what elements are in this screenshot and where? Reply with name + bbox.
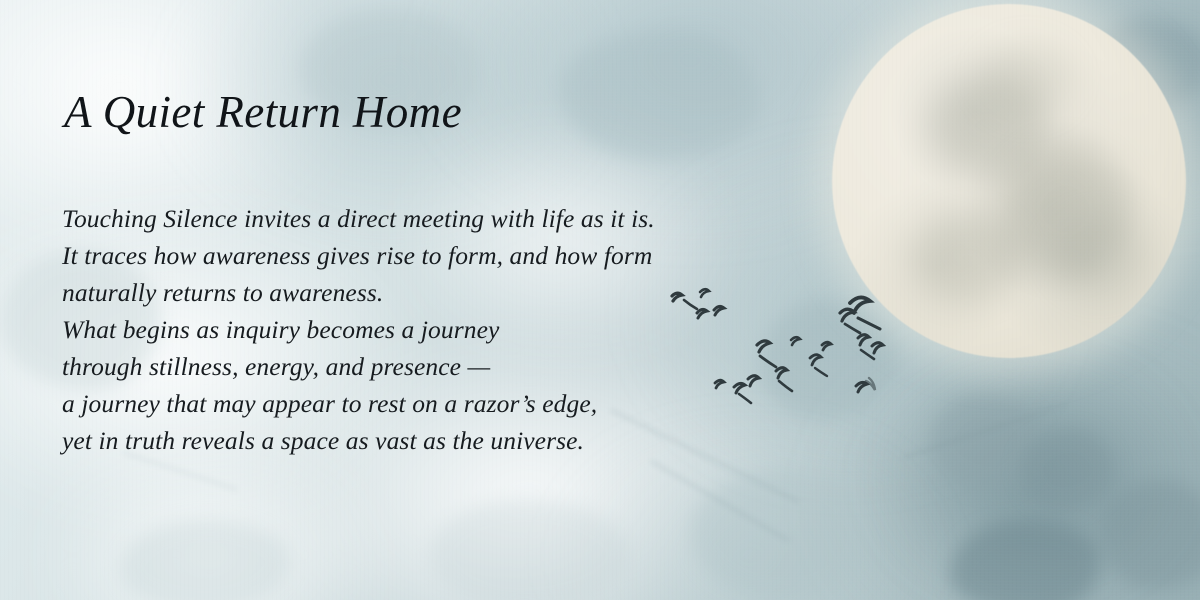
cloud-blot — [1020, 430, 1115, 510]
poster-canvas: A Quiet Return Home Touching Silence inv… — [0, 0, 1200, 600]
body-line: It traces how awareness gives rise to fo… — [62, 237, 655, 274]
body-line: a journey that may appear to rest on a r… — [62, 385, 655, 422]
body-text-block: Touching Silence invites a direct meetin… — [62, 200, 655, 459]
body-line: yet in truth reveals a space as vast as … — [62, 422, 655, 459]
body-line: Touching Silence invites a direct meetin… — [62, 200, 655, 237]
body-line: What begins as inquiry becomes a journey — [62, 311, 655, 348]
moon-icon — [832, 4, 1186, 358]
body-line: naturally returns to awareness. — [62, 274, 655, 311]
page-title: A Quiet Return Home — [64, 86, 462, 138]
moon-crater — [982, 44, 1072, 114]
body-line: through stillness, energy, and presence … — [62, 348, 655, 385]
cloud-blot — [560, 30, 760, 160]
moon-crater — [1052, 216, 1144, 294]
moon-crater — [912, 214, 1022, 302]
